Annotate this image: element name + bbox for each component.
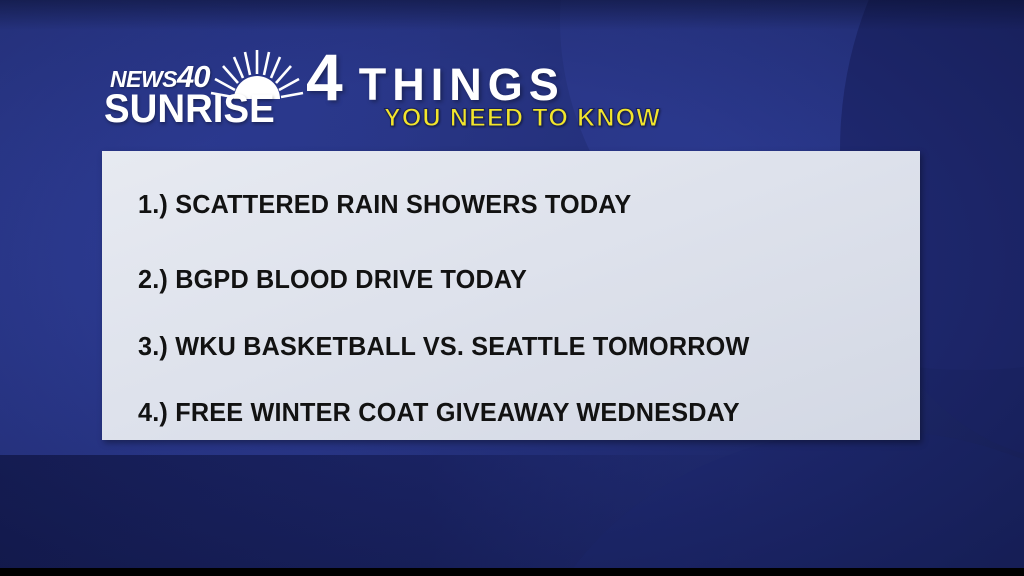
headline-count: 4	[306, 46, 343, 108]
things-list: 1.) SCATTERED RAIN SHOWERS TODAY 2.) BGP…	[138, 189, 920, 428]
letterbox-bar-bottom	[0, 568, 1024, 576]
list-item: 1.) SCATTERED RAIN SHOWERS TODAY	[138, 189, 897, 220]
news40-sunrise-logo: NEWS40	[104, 44, 304, 140]
list-item: 4.) FREE WINTER COAT GIVEAWAY WEDNESDAY	[138, 397, 897, 428]
list-item: 3.) WKU BASKETBALL VS. SEATTLE TOMORROW	[138, 331, 897, 362]
list-item: 2.) BGPD BLOOD DRIVE TODAY	[138, 264, 897, 295]
broadcast-graphic: NEWS40	[0, 0, 1024, 576]
headline-subtitle: YOU NEED TO KNOW	[384, 104, 661, 133]
headline-block: 4 THINGS YOU NEED TO KNOW	[306, 46, 706, 142]
things-list-panel: 1.) SCATTERED RAIN SHOWERS TODAY 2.) BGP…	[102, 151, 920, 440]
station-branding: NEWS40	[104, 44, 304, 140]
sunrise-wordmark: SUNRISE	[104, 87, 275, 132]
